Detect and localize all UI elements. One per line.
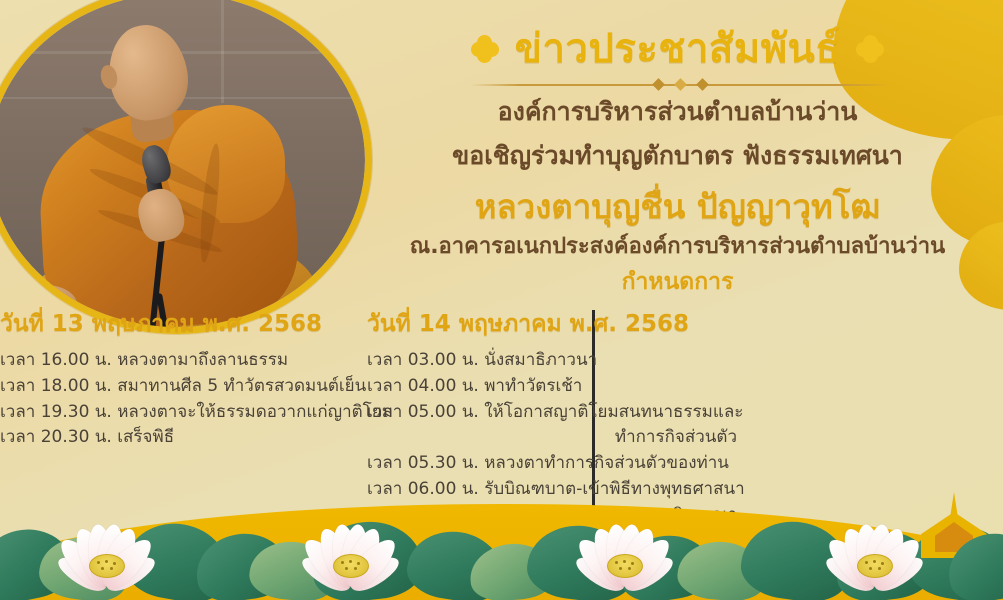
schedule-list-day1: เวลา 16.00 น. หลวงตามาถึงลานธรรม เวลา 18… (0, 348, 345, 451)
lotus-flower (810, 504, 938, 600)
schedule-heading: กำหนดการ (352, 264, 1003, 300)
organization-name: องค์การบริหารส่วนตำบลบ้านว่าน (352, 92, 1003, 132)
page-title: ข่าวประชาสัมพันธ์ (515, 26, 841, 72)
schedule-date-heading: วันที่ 13 พฤษภาคม พ.ศ. 2568 (0, 306, 345, 342)
quatrefoil-flower-icon-right (856, 35, 884, 63)
schedule-item: เวลา 20.30 น. เสร็จพิธี (0, 425, 345, 451)
monk-photo-container (0, 0, 372, 334)
title-row: ข่าวประชาสัมพันธ์ (352, 26, 1003, 72)
schedule-item: เวลา 18.00 น. สมาทานศีล 5 ทำวัตรสวดมนต์เ… (0, 374, 345, 400)
lotus-flower (42, 504, 170, 600)
lotus-flower (560, 504, 688, 600)
schedule-date-heading: วันที่ 14 พฤษภาคม พ.ศ. 2568 (367, 306, 745, 342)
lotus-border-decoration (0, 480, 1003, 600)
monk-name: หลวงตาบุญชื่น ปัญญาวุทโฒ (352, 180, 1003, 233)
schedule-item-continuation: ทำการกิจส่วนตัว (367, 425, 745, 451)
schedule-item: เวลา 16.00 น. หลวงตามาถึงลานธรรม (0, 348, 345, 374)
photo-gold-ring-frame (0, 0, 372, 334)
schedule-item: เวลา 04.00 น. พาทำวัตรเช้า (367, 374, 745, 400)
invitation-line: ขอเชิญร่วมทำบุญตักบาตร ฟังธรรมเทศนา (352, 136, 1003, 176)
title-divider-ornament (470, 78, 890, 92)
schedule-item: เวลา 05.00 น. ให้โอกาสญาติโยมสนทนาธรรมแล… (367, 400, 745, 426)
wall-seam-vertical (221, 0, 224, 103)
monk-photograph (0, 0, 365, 327)
announcement-poster: ข่าวประชาสัมพันธ์ องค์การบริหารส่วนตำบลบ… (0, 0, 1003, 600)
schedule-item: เวลา 19.30 น. หลวงตาจะให้ธรรมดอวากแก่ญาต… (0, 400, 345, 426)
schedule-item: เวลา 03.00 น. นั่งสมาธิภาวนา (367, 348, 745, 374)
wall-seam-horizontal (0, 51, 365, 54)
lotus-flower (286, 504, 414, 600)
quatrefoil-flower-icon-left (471, 35, 499, 63)
venue-line: ณ.อาคารอเนกประสงค์องค์การบริหารส่วนตำบลบ… (352, 228, 1003, 263)
schedule-item: เวลา 05.30 น. หลวงตาทำการกิจส่วนตัวของท่… (367, 451, 745, 477)
